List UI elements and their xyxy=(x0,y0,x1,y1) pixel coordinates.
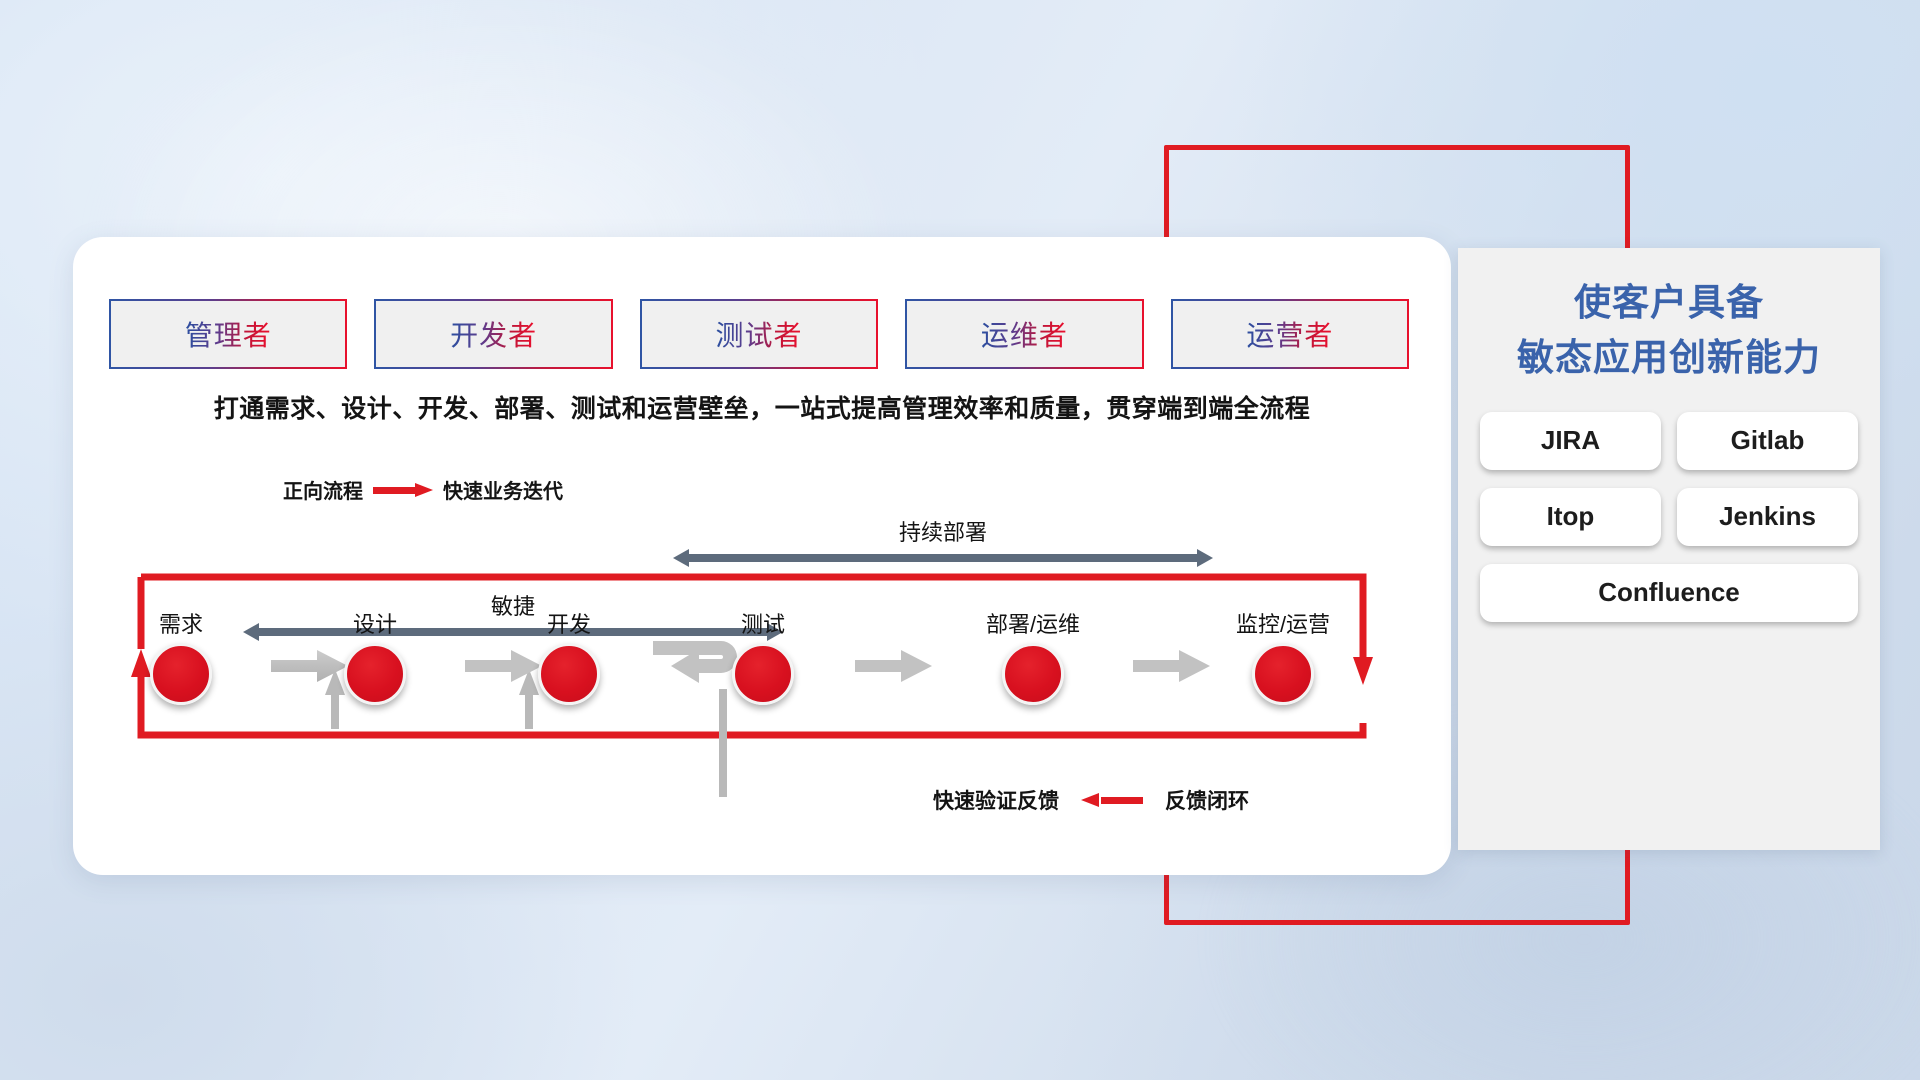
tool-chip-itop[interactable]: Itop xyxy=(1480,488,1661,546)
stage-label: 开发 xyxy=(509,607,629,639)
feedback-result-label: 快速验证反馈 xyxy=(933,785,1059,815)
role-box-business-operator[interactable]: 运营者 xyxy=(1171,299,1409,369)
arrow-right-gray-icon-3 xyxy=(855,649,933,683)
stage-dot xyxy=(150,643,212,705)
role-box-operations-engineer[interactable]: 运维者 xyxy=(905,299,1143,369)
card-headline: 打通需求、设计、开发、部署、测试和运营壁垒，一站式提高管理效率和质量，贯穿端到端… xyxy=(73,389,1451,425)
arrow-left-red-icon xyxy=(1081,793,1143,807)
stage-dot xyxy=(1252,643,1314,705)
stage-testing[interactable]: 测试 xyxy=(703,607,823,705)
slide-canvas: 管理者 开发者 测试者 运维者 运营者 打通需求、设计、开发、部署、测试和运营壁… xyxy=(0,0,1920,1080)
stage-monitoring-operations[interactable]: 监控/运营 xyxy=(1203,607,1363,705)
panel-title-line-2: 敏态应用创新能力 xyxy=(1458,331,1880,386)
role-box-tester[interactable]: 测试者 xyxy=(640,299,878,369)
feedback-source-label: 反馈闭环 xyxy=(1165,785,1249,815)
outcome-panel: 使客户具备 敏态应用创新能力 JIRA Gitlab Itop Jenkins … xyxy=(1458,248,1880,850)
arrow-bar xyxy=(688,554,1198,562)
role-label: 管理者 xyxy=(185,314,272,354)
devops-flow-card: 管理者 开发者 测试者 运维者 运营者 打通需求、设计、开发、部署、测试和运营壁… xyxy=(73,237,1451,875)
forward-flow-annotation: 正向流程 快速业务迭代 xyxy=(283,475,563,504)
stage-deployment-ops[interactable]: 部署/运维 xyxy=(953,607,1113,705)
role-label: 开发者 xyxy=(450,314,537,354)
role-label: 运维者 xyxy=(981,314,1068,354)
panel-title-line-1: 使客户具备 xyxy=(1458,276,1880,331)
tool-chip-jenkins[interactable]: Jenkins xyxy=(1677,488,1858,546)
tool-chip-gitlab[interactable]: Gitlab xyxy=(1677,412,1858,470)
stage-design[interactable]: 设计 xyxy=(315,607,435,705)
stage-development[interactable]: 开发 xyxy=(509,607,629,705)
stage-label: 测试 xyxy=(703,607,823,639)
span-label: 持续部署 xyxy=(673,515,1213,547)
tool-chip-confluence[interactable]: Confluence xyxy=(1480,564,1858,622)
stage-requirements[interactable]: 需求 xyxy=(121,607,241,705)
arrow-right-gray-icon-4 xyxy=(1133,649,1211,683)
role-label: 测试者 xyxy=(716,314,803,354)
stage-label: 设计 xyxy=(315,607,435,639)
tool-chip-jira[interactable]: JIRA xyxy=(1480,412,1661,470)
stage-label: 需求 xyxy=(121,607,241,639)
role-box-row: 管理者 开发者 测试者 运维者 运营者 xyxy=(109,299,1409,369)
stage-dot xyxy=(344,643,406,705)
double-arrow-icon xyxy=(673,549,1213,567)
forward-flow-target-label: 快速业务迭代 xyxy=(443,475,563,504)
stage-dot xyxy=(732,643,794,705)
tool-chip-list: JIRA Gitlab Itop Jenkins Confluence xyxy=(1480,412,1858,622)
stage-label: 监控/运营 xyxy=(1203,607,1363,639)
panel-title: 使客户具备 敏态应用创新能力 xyxy=(1458,276,1880,386)
role-label: 运营者 xyxy=(1246,314,1333,354)
stage-label: 部署/运维 xyxy=(953,607,1113,639)
stage-dot xyxy=(538,643,600,705)
span-continuous-deployment: 持续部署 xyxy=(673,515,1213,567)
arrow-head-right xyxy=(1197,549,1213,567)
forward-flow-source-label: 正向流程 xyxy=(283,475,363,504)
pipeline-row: 需求 设计 xyxy=(113,607,1413,727)
role-box-manager[interactable]: 管理者 xyxy=(109,299,347,369)
arrow-right-red-icon xyxy=(373,483,433,497)
arrow-head-left xyxy=(673,549,689,567)
stage-dot xyxy=(1002,643,1064,705)
role-box-developer[interactable]: 开发者 xyxy=(374,299,612,369)
feedback-loop-annotation: 快速验证反馈 反馈闭环 xyxy=(933,785,1249,815)
